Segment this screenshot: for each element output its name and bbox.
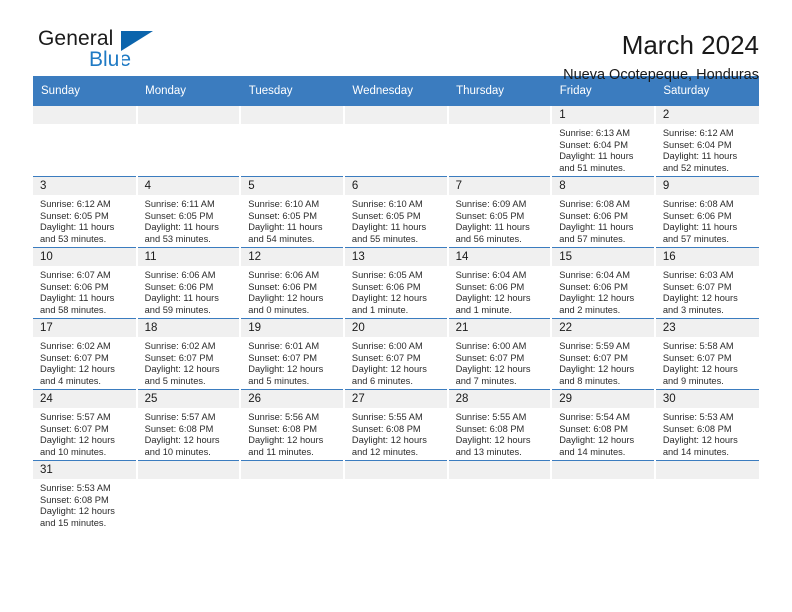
sunrise-text: Sunrise: 6:03 AM xyxy=(663,270,759,282)
calendar-day-cell[interactable]: 21Sunrise: 6:00 AMSunset: 6:07 PMDayligh… xyxy=(448,319,552,390)
day-number xyxy=(552,461,654,479)
calendar-day-cell[interactable]: 16Sunrise: 6:03 AMSunset: 6:07 PMDayligh… xyxy=(655,248,759,319)
day-number: 28 xyxy=(449,390,551,408)
daylight-text-line1: Daylight: 12 hours xyxy=(40,435,136,447)
weekday-header-tuesday: Tuesday xyxy=(240,76,344,106)
day-sun-info: Sunrise: 6:08 AMSunset: 6:06 PMDaylight:… xyxy=(656,195,759,245)
calendar-day-cell[interactable]: 12Sunrise: 6:06 AMSunset: 6:06 PMDayligh… xyxy=(240,248,344,319)
calendar-empty-cell xyxy=(137,461,241,532)
day-number: 15 xyxy=(552,248,654,266)
calendar-day-cell[interactable]: 4Sunrise: 6:11 AMSunset: 6:05 PMDaylight… xyxy=(137,177,241,248)
daylight-text-line1: Daylight: 12 hours xyxy=(559,364,654,376)
sunrise-text: Sunrise: 5:59 AM xyxy=(559,341,654,353)
sunrise-text: Sunrise: 6:08 AM xyxy=(663,199,759,211)
daylight-text-line2: and 8 minutes. xyxy=(559,376,654,388)
daylight-text-line1: Daylight: 12 hours xyxy=(248,364,343,376)
day-cell-content: 21Sunrise: 6:00 AMSunset: 6:07 PMDayligh… xyxy=(449,319,551,389)
day-cell-content: 3Sunrise: 6:12 AMSunset: 6:05 PMDaylight… xyxy=(33,177,136,247)
day-cell-content: 24Sunrise: 5:57 AMSunset: 6:07 PMDayligh… xyxy=(33,390,136,460)
brand-logo[interactable]: General Blue xyxy=(33,28,183,80)
daylight-text-line2: and 13 minutes. xyxy=(456,447,551,459)
daylight-text-line1: Daylight: 12 hours xyxy=(352,293,447,305)
day-sun-info: Sunrise: 6:00 AMSunset: 6:07 PMDaylight:… xyxy=(345,337,447,387)
sunrise-text: Sunrise: 6:04 AM xyxy=(559,270,654,282)
location-subtitle: Nueva Ocotepeque, Honduras xyxy=(563,64,759,86)
daylight-text-line2: and 11 minutes. xyxy=(248,447,343,459)
sunset-text: Sunset: 6:05 PM xyxy=(248,211,343,223)
calendar-day-cell[interactable]: 18Sunrise: 6:02 AMSunset: 6:07 PMDayligh… xyxy=(137,319,241,390)
sunset-text: Sunset: 6:07 PM xyxy=(40,424,136,436)
sunrise-text: Sunrise: 6:04 AM xyxy=(456,270,551,282)
sunset-text: Sunset: 6:06 PM xyxy=(559,211,654,223)
sunrise-text: Sunrise: 6:00 AM xyxy=(352,341,447,353)
day-number: 6 xyxy=(345,177,447,195)
day-cell-content: 4Sunrise: 6:11 AMSunset: 6:05 PMDaylight… xyxy=(138,177,240,247)
day-cell-content: 6Sunrise: 6:10 AMSunset: 6:05 PMDaylight… xyxy=(345,177,447,247)
day-number: 8 xyxy=(552,177,654,195)
daylight-text-line2: and 57 minutes. xyxy=(663,234,759,246)
daylight-text-line2: and 1 minute. xyxy=(456,305,551,317)
sunset-text: Sunset: 6:06 PM xyxy=(456,282,551,294)
sunrise-text: Sunrise: 5:57 AM xyxy=(145,412,240,424)
daylight-text-line2: and 15 minutes. xyxy=(40,518,136,530)
day-cell-content: 9Sunrise: 6:08 AMSunset: 6:06 PMDaylight… xyxy=(656,177,759,247)
sunset-text: Sunset: 6:06 PM xyxy=(559,282,654,294)
day-cell-content xyxy=(552,461,654,531)
sunrise-text: Sunrise: 6:09 AM xyxy=(456,199,551,211)
day-sun-info: Sunrise: 5:55 AMSunset: 6:08 PMDaylight:… xyxy=(449,408,551,458)
page-header: General Blue March 2024 Nueva Ocotepeque… xyxy=(33,0,759,72)
sunset-text: Sunset: 6:08 PM xyxy=(352,424,447,436)
daylight-text-line2: and 9 minutes. xyxy=(663,376,759,388)
day-cell-content: 25Sunrise: 5:57 AMSunset: 6:08 PMDayligh… xyxy=(138,390,240,460)
calendar-week-row: 17Sunrise: 6:02 AMSunset: 6:07 PMDayligh… xyxy=(33,319,759,390)
calendar-empty-cell xyxy=(448,106,552,177)
sunrise-text: Sunrise: 6:07 AM xyxy=(40,270,136,282)
calendar-day-cell[interactable]: 28Sunrise: 5:55 AMSunset: 6:08 PMDayligh… xyxy=(448,390,552,461)
daylight-text-line2: and 57 minutes. xyxy=(559,234,654,246)
day-cell-content: 22Sunrise: 5:59 AMSunset: 6:07 PMDayligh… xyxy=(552,319,654,389)
sunset-text: Sunset: 6:07 PM xyxy=(559,353,654,365)
day-number: 29 xyxy=(552,390,654,408)
daylight-text-line1: Daylight: 11 hours xyxy=(663,222,759,234)
sunrise-text: Sunrise: 6:12 AM xyxy=(663,128,759,140)
weekday-header-monday: Monday xyxy=(137,76,241,106)
day-sun-info: Sunrise: 6:07 AMSunset: 6:06 PMDaylight:… xyxy=(33,266,136,316)
day-number: 25 xyxy=(138,390,240,408)
day-number: 30 xyxy=(656,390,759,408)
day-sun-info: Sunrise: 6:12 AMSunset: 6:05 PMDaylight:… xyxy=(33,195,136,245)
sunset-text: Sunset: 6:07 PM xyxy=(663,282,759,294)
sunset-text: Sunset: 6:07 PM xyxy=(40,353,136,365)
daylight-text-line1: Daylight: 11 hours xyxy=(145,222,240,234)
daylight-text-line2: and 3 minutes. xyxy=(663,305,759,317)
daylight-text-line1: Daylight: 11 hours xyxy=(663,151,759,163)
day-sun-info: Sunrise: 5:56 AMSunset: 6:08 PMDaylight:… xyxy=(241,408,343,458)
day-sun-info: Sunrise: 6:05 AMSunset: 6:06 PMDaylight:… xyxy=(345,266,447,316)
daylight-text-line2: and 59 minutes. xyxy=(145,305,240,317)
day-number xyxy=(449,106,551,124)
sunset-text: Sunset: 6:08 PM xyxy=(145,424,240,436)
day-number xyxy=(138,461,240,479)
day-sun-info: Sunrise: 5:55 AMSunset: 6:08 PMDaylight:… xyxy=(345,408,447,458)
day-sun-info: Sunrise: 5:59 AMSunset: 6:07 PMDaylight:… xyxy=(552,337,654,387)
daylight-text-line1: Daylight: 11 hours xyxy=(456,222,551,234)
daylight-text-line1: Daylight: 11 hours xyxy=(559,222,654,234)
calendar-day-cell[interactable]: 5Sunrise: 6:10 AMSunset: 6:05 PMDaylight… xyxy=(240,177,344,248)
calendar-day-cell[interactable]: 10Sunrise: 6:07 AMSunset: 6:06 PMDayligh… xyxy=(33,248,137,319)
sunset-text: Sunset: 6:04 PM xyxy=(663,140,759,152)
day-number: 5 xyxy=(241,177,343,195)
day-cell-content xyxy=(345,106,447,176)
day-cell-content xyxy=(656,461,759,531)
day-number: 9 xyxy=(656,177,759,195)
sunrise-text: Sunrise: 6:08 AM xyxy=(559,199,654,211)
daylight-text-line1: Daylight: 12 hours xyxy=(40,364,136,376)
day-cell-content xyxy=(241,461,343,531)
day-number: 7 xyxy=(449,177,551,195)
day-number: 10 xyxy=(33,248,136,266)
day-sun-info: Sunrise: 5:53 AMSunset: 6:08 PMDaylight:… xyxy=(656,408,759,458)
calendar-body: 1Sunrise: 6:13 AMSunset: 6:04 PMDaylight… xyxy=(33,106,759,531)
sunrise-text: Sunrise: 6:11 AM xyxy=(145,199,240,211)
calendar-day-cell[interactable]: 20Sunrise: 6:00 AMSunset: 6:07 PMDayligh… xyxy=(344,319,448,390)
day-cell-content xyxy=(33,106,136,176)
day-sun-info: Sunrise: 6:08 AMSunset: 6:06 PMDaylight:… xyxy=(552,195,654,245)
sunset-text: Sunset: 6:05 PM xyxy=(456,211,551,223)
sunset-text: Sunset: 6:07 PM xyxy=(456,353,551,365)
sunrise-text: Sunrise: 5:53 AM xyxy=(663,412,759,424)
day-number: 1 xyxy=(552,106,654,124)
sunrise-text: Sunrise: 6:02 AM xyxy=(40,341,136,353)
day-number xyxy=(345,106,447,124)
day-sun-info: Sunrise: 6:13 AMSunset: 6:04 PMDaylight:… xyxy=(552,124,654,174)
sunset-text: Sunset: 6:06 PM xyxy=(145,282,240,294)
sunrise-text: Sunrise: 5:53 AM xyxy=(40,483,136,495)
calendar-empty-cell xyxy=(655,461,759,532)
day-cell-content xyxy=(138,106,240,176)
calendar-empty-cell xyxy=(344,106,448,177)
day-cell-content: 5Sunrise: 6:10 AMSunset: 6:05 PMDaylight… xyxy=(241,177,343,247)
calendar-day-cell[interactable]: 7Sunrise: 6:09 AMSunset: 6:05 PMDaylight… xyxy=(448,177,552,248)
daylight-text-line2: and 4 minutes. xyxy=(40,376,136,388)
sunrise-text: Sunrise: 5:54 AM xyxy=(559,412,654,424)
sunset-text: Sunset: 6:08 PM xyxy=(248,424,343,436)
calendar-day-cell[interactable]: 9Sunrise: 6:08 AMSunset: 6:06 PMDaylight… xyxy=(655,177,759,248)
calendar-week-row: 3Sunrise: 6:12 AMSunset: 6:05 PMDaylight… xyxy=(33,177,759,248)
sunrise-text: Sunrise: 6:06 AM xyxy=(248,270,343,282)
sunrise-text: Sunrise: 6:10 AM xyxy=(248,199,343,211)
brand-name-general: General xyxy=(38,28,183,50)
calendar-day-cell[interactable]: 13Sunrise: 6:05 AMSunset: 6:06 PMDayligh… xyxy=(344,248,448,319)
day-sun-info: Sunrise: 5:54 AMSunset: 6:08 PMDaylight:… xyxy=(552,408,654,458)
weekday-header-sunday: Sunday xyxy=(33,76,137,106)
calendar-day-cell[interactable]: 26Sunrise: 5:56 AMSunset: 6:08 PMDayligh… xyxy=(240,390,344,461)
day-sun-info: Sunrise: 6:11 AMSunset: 6:05 PMDaylight:… xyxy=(138,195,240,245)
sunset-text: Sunset: 6:06 PM xyxy=(40,282,136,294)
day-sun-info: Sunrise: 6:00 AMSunset: 6:07 PMDaylight:… xyxy=(449,337,551,387)
daylight-text-line1: Daylight: 12 hours xyxy=(145,435,240,447)
day-sun-info: Sunrise: 6:02 AMSunset: 6:07 PMDaylight:… xyxy=(138,337,240,387)
calendar-day-cell[interactable]: 2Sunrise: 6:12 AMSunset: 6:04 PMDaylight… xyxy=(655,106,759,177)
day-cell-content xyxy=(449,461,551,531)
logo-triangle-icon xyxy=(121,31,153,51)
day-sun-info: Sunrise: 6:01 AMSunset: 6:07 PMDaylight:… xyxy=(241,337,343,387)
day-cell-content: 7Sunrise: 6:09 AMSunset: 6:05 PMDaylight… xyxy=(449,177,551,247)
day-number: 12 xyxy=(241,248,343,266)
day-number: 26 xyxy=(241,390,343,408)
day-sun-info: Sunrise: 6:12 AMSunset: 6:04 PMDaylight:… xyxy=(656,124,759,174)
day-number xyxy=(241,106,343,124)
calendar-day-cell[interactable]: 14Sunrise: 6:04 AMSunset: 6:06 PMDayligh… xyxy=(448,248,552,319)
sunset-text: Sunset: 6:04 PM xyxy=(559,140,654,152)
calendar-day-cell[interactable]: 31Sunrise: 5:53 AMSunset: 6:08 PMDayligh… xyxy=(33,461,137,532)
sunrise-text: Sunrise: 6:00 AM xyxy=(456,341,551,353)
sunset-text: Sunset: 6:07 PM xyxy=(248,353,343,365)
daylight-text-line2: and 5 minutes. xyxy=(248,376,343,388)
sunset-text: Sunset: 6:05 PM xyxy=(352,211,447,223)
sunrise-text: Sunrise: 6:12 AM xyxy=(40,199,136,211)
weekday-header-wednesday: Wednesday xyxy=(344,76,448,106)
title-block: March 2024 Nueva Ocotepeque, Honduras xyxy=(563,28,759,86)
sunrise-text: Sunrise: 6:06 AM xyxy=(145,270,240,282)
day-cell-content: 8Sunrise: 6:08 AMSunset: 6:06 PMDaylight… xyxy=(552,177,654,247)
calendar-day-cell[interactable]: 11Sunrise: 6:06 AMSunset: 6:06 PMDayligh… xyxy=(137,248,241,319)
day-sun-info: Sunrise: 5:53 AMSunset: 6:08 PMDaylight:… xyxy=(33,479,136,529)
day-sun-info: Sunrise: 6:03 AMSunset: 6:07 PMDaylight:… xyxy=(656,266,759,316)
sunset-text: Sunset: 6:05 PM xyxy=(145,211,240,223)
sunrise-text: Sunrise: 5:55 AM xyxy=(352,412,447,424)
weekday-header-thursday: Thursday xyxy=(448,76,552,106)
daylight-text-line2: and 53 minutes. xyxy=(145,234,240,246)
day-sun-info: Sunrise: 6:10 AMSunset: 6:05 PMDaylight:… xyxy=(241,195,343,245)
day-cell-content: 26Sunrise: 5:56 AMSunset: 6:08 PMDayligh… xyxy=(241,390,343,460)
day-number xyxy=(33,106,136,124)
daylight-text-line2: and 0 minutes. xyxy=(248,305,343,317)
day-number xyxy=(138,106,240,124)
daylight-text-line1: Daylight: 12 hours xyxy=(248,435,343,447)
calendar-day-cell[interactable]: 17Sunrise: 6:02 AMSunset: 6:07 PMDayligh… xyxy=(33,319,137,390)
day-number: 16 xyxy=(656,248,759,266)
sunset-text: Sunset: 6:05 PM xyxy=(40,211,136,223)
sunset-text: Sunset: 6:06 PM xyxy=(352,282,447,294)
daylight-text-line1: Daylight: 11 hours xyxy=(352,222,447,234)
daylight-text-line1: Daylight: 11 hours xyxy=(248,222,343,234)
day-cell-content: 30Sunrise: 5:53 AMSunset: 6:08 PMDayligh… xyxy=(656,390,759,460)
sunset-text: Sunset: 6:06 PM xyxy=(663,211,759,223)
daylight-text-line2: and 55 minutes. xyxy=(352,234,447,246)
daylight-text-line1: Daylight: 12 hours xyxy=(456,435,551,447)
day-number: 14 xyxy=(449,248,551,266)
daylight-text-line2: and 12 minutes. xyxy=(352,447,447,459)
daylight-text-line2: and 6 minutes. xyxy=(352,376,447,388)
sunrise-text: Sunrise: 5:55 AM xyxy=(456,412,551,424)
page-title: March 2024 xyxy=(563,30,759,60)
sunrise-text: Sunrise: 5:58 AM xyxy=(663,341,759,353)
calendar-week-row: 31Sunrise: 5:53 AMSunset: 6:08 PMDayligh… xyxy=(33,461,759,532)
day-number: 21 xyxy=(449,319,551,337)
calendar-day-cell[interactable]: 8Sunrise: 6:08 AMSunset: 6:06 PMDaylight… xyxy=(551,177,655,248)
day-number xyxy=(345,461,447,479)
calendar-empty-cell xyxy=(33,106,137,177)
calendar-day-cell[interactable]: 15Sunrise: 6:04 AMSunset: 6:06 PMDayligh… xyxy=(551,248,655,319)
calendar-day-cell[interactable]: 22Sunrise: 5:59 AMSunset: 6:07 PMDayligh… xyxy=(551,319,655,390)
calendar-day-cell[interactable]: 1Sunrise: 6:13 AMSunset: 6:04 PMDaylight… xyxy=(551,106,655,177)
daylight-text-line1: Daylight: 12 hours xyxy=(145,364,240,376)
day-sun-info: Sunrise: 6:02 AMSunset: 6:07 PMDaylight:… xyxy=(33,337,136,387)
daylight-text-line1: Daylight: 12 hours xyxy=(663,435,759,447)
day-cell-content: 2Sunrise: 6:12 AMSunset: 6:04 PMDaylight… xyxy=(656,106,759,176)
calendar-week-row: 24Sunrise: 5:57 AMSunset: 6:07 PMDayligh… xyxy=(33,390,759,461)
day-number: 19 xyxy=(241,319,343,337)
daylight-text-line1: Daylight: 12 hours xyxy=(248,293,343,305)
day-cell-content: 15Sunrise: 6:04 AMSunset: 6:06 PMDayligh… xyxy=(552,248,654,318)
day-sun-info: Sunrise: 5:57 AMSunset: 6:07 PMDaylight:… xyxy=(33,408,136,458)
daylight-text-line2: and 53 minutes. xyxy=(40,234,136,246)
day-number: 13 xyxy=(345,248,447,266)
sunrise-text: Sunrise: 6:13 AM xyxy=(559,128,654,140)
daylight-text-line2: and 2 minutes. xyxy=(559,305,654,317)
daylight-text-line1: Daylight: 12 hours xyxy=(352,364,447,376)
day-number: 22 xyxy=(552,319,654,337)
calendar-day-cell[interactable]: 30Sunrise: 5:53 AMSunset: 6:08 PMDayligh… xyxy=(655,390,759,461)
day-sun-info: Sunrise: 6:10 AMSunset: 6:05 PMDaylight:… xyxy=(345,195,447,245)
daylight-text-line1: Daylight: 12 hours xyxy=(559,293,654,305)
calendar-day-cell[interactable]: 23Sunrise: 5:58 AMSunset: 6:07 PMDayligh… xyxy=(655,319,759,390)
day-cell-content: 16Sunrise: 6:03 AMSunset: 6:07 PMDayligh… xyxy=(656,248,759,318)
day-cell-content: 19Sunrise: 6:01 AMSunset: 6:07 PMDayligh… xyxy=(241,319,343,389)
calendar-empty-cell xyxy=(137,106,241,177)
day-sun-info: Sunrise: 6:06 AMSunset: 6:06 PMDaylight:… xyxy=(138,266,240,316)
day-cell-content: 28Sunrise: 5:55 AMSunset: 6:08 PMDayligh… xyxy=(449,390,551,460)
calendar-page: General Blue March 2024 Nueva Ocotepeque… xyxy=(0,0,792,612)
day-number: 17 xyxy=(33,319,136,337)
sunset-text: Sunset: 6:08 PM xyxy=(456,424,551,436)
daylight-text-line2: and 56 minutes. xyxy=(456,234,551,246)
sunset-text: Sunset: 6:08 PM xyxy=(663,424,759,436)
day-number xyxy=(449,461,551,479)
daylight-text-line2: and 10 minutes. xyxy=(145,447,240,459)
day-number: 31 xyxy=(33,461,136,479)
day-cell-content: 31Sunrise: 5:53 AMSunset: 6:08 PMDayligh… xyxy=(33,461,136,531)
day-sun-info: Sunrise: 5:58 AMSunset: 6:07 PMDaylight:… xyxy=(656,337,759,387)
day-number: 24 xyxy=(33,390,136,408)
day-cell-content xyxy=(241,106,343,176)
calendar-empty-cell xyxy=(448,461,552,532)
calendar-empty-cell xyxy=(551,461,655,532)
day-sun-info: Sunrise: 5:57 AMSunset: 6:08 PMDaylight:… xyxy=(138,408,240,458)
daylight-text-line1: Daylight: 11 hours xyxy=(40,293,136,305)
day-cell-content: 27Sunrise: 5:55 AMSunset: 6:08 PMDayligh… xyxy=(345,390,447,460)
daylight-text-line2: and 10 minutes. xyxy=(40,447,136,459)
calendar-week-row: 1Sunrise: 6:13 AMSunset: 6:04 PMDaylight… xyxy=(33,106,759,177)
day-cell-content: 23Sunrise: 5:58 AMSunset: 6:07 PMDayligh… xyxy=(656,319,759,389)
day-number: 20 xyxy=(345,319,447,337)
day-cell-content xyxy=(345,461,447,531)
calendar-day-cell[interactable]: 27Sunrise: 5:55 AMSunset: 6:08 PMDayligh… xyxy=(344,390,448,461)
daylight-text-line1: Daylight: 12 hours xyxy=(663,364,759,376)
calendar-week-row: 10Sunrise: 6:07 AMSunset: 6:06 PMDayligh… xyxy=(33,248,759,319)
sunset-text: Sunset: 6:07 PM xyxy=(663,353,759,365)
day-cell-content: 12Sunrise: 6:06 AMSunset: 6:06 PMDayligh… xyxy=(241,248,343,318)
daylight-text-line1: Daylight: 11 hours xyxy=(145,293,240,305)
brand-name-blue: Blue xyxy=(38,50,183,70)
day-number: 23 xyxy=(656,319,759,337)
day-cell-content: 14Sunrise: 6:04 AMSunset: 6:06 PMDayligh… xyxy=(449,248,551,318)
daylight-text-line1: Daylight: 12 hours xyxy=(456,364,551,376)
sunset-text: Sunset: 6:08 PM xyxy=(559,424,654,436)
daylight-text-line2: and 14 minutes. xyxy=(559,447,654,459)
day-number: 4 xyxy=(138,177,240,195)
calendar-empty-cell xyxy=(240,106,344,177)
daylight-text-line1: Daylight: 12 hours xyxy=(40,506,136,518)
sunrise-text: Sunrise: 6:10 AM xyxy=(352,199,447,211)
calendar-day-cell[interactable]: 25Sunrise: 5:57 AMSunset: 6:08 PMDayligh… xyxy=(137,390,241,461)
day-number: 27 xyxy=(345,390,447,408)
sunset-text: Sunset: 6:06 PM xyxy=(248,282,343,294)
sunrise-sunset-calendar: Sunday Monday Tuesday Wednesday Thursday… xyxy=(33,76,759,531)
calendar-day-cell[interactable]: 6Sunrise: 6:10 AMSunset: 6:05 PMDaylight… xyxy=(344,177,448,248)
day-number: 18 xyxy=(138,319,240,337)
calendar-day-cell[interactable]: 29Sunrise: 5:54 AMSunset: 6:08 PMDayligh… xyxy=(551,390,655,461)
daylight-text-line2: and 7 minutes. xyxy=(456,376,551,388)
day-cell-content xyxy=(138,461,240,531)
day-number: 3 xyxy=(33,177,136,195)
day-sun-info: Sunrise: 6:09 AMSunset: 6:05 PMDaylight:… xyxy=(449,195,551,245)
daylight-text-line1: Daylight: 12 hours xyxy=(559,435,654,447)
daylight-text-line2: and 14 minutes. xyxy=(663,447,759,459)
day-number: 2 xyxy=(656,106,759,124)
day-cell-content: 18Sunrise: 6:02 AMSunset: 6:07 PMDayligh… xyxy=(138,319,240,389)
daylight-text-line2: and 54 minutes. xyxy=(248,234,343,246)
day-cell-content: 11Sunrise: 6:06 AMSunset: 6:06 PMDayligh… xyxy=(138,248,240,318)
sunrise-text: Sunrise: 6:05 AM xyxy=(352,270,447,282)
daylight-text-line2: and 1 minute. xyxy=(352,305,447,317)
day-cell-content: 1Sunrise: 6:13 AMSunset: 6:04 PMDaylight… xyxy=(552,106,654,176)
daylight-text-line2: and 58 minutes. xyxy=(40,305,136,317)
daylight-text-line1: Daylight: 11 hours xyxy=(559,151,654,163)
sunrise-text: Sunrise: 5:56 AM xyxy=(248,412,343,424)
day-sun-info: Sunrise: 6:06 AMSunset: 6:06 PMDaylight:… xyxy=(241,266,343,316)
day-number xyxy=(656,461,759,479)
daylight-text-line1: Daylight: 12 hours xyxy=(352,435,447,447)
daylight-text-line2: and 5 minutes. xyxy=(145,376,240,388)
calendar-empty-cell xyxy=(240,461,344,532)
day-number xyxy=(241,461,343,479)
calendar-day-cell[interactable]: 3Sunrise: 6:12 AMSunset: 6:05 PMDaylight… xyxy=(33,177,137,248)
daylight-text-line2: and 51 minutes. xyxy=(559,163,654,175)
day-cell-content: 29Sunrise: 5:54 AMSunset: 6:08 PMDayligh… xyxy=(552,390,654,460)
day-number: 11 xyxy=(138,248,240,266)
day-sun-info: Sunrise: 6:04 AMSunset: 6:06 PMDaylight:… xyxy=(449,266,551,316)
day-cell-content xyxy=(449,106,551,176)
sunset-text: Sunset: 6:07 PM xyxy=(145,353,240,365)
daylight-text-line1: Daylight: 12 hours xyxy=(456,293,551,305)
sunrise-text: Sunrise: 5:57 AM xyxy=(40,412,136,424)
day-cell-content: 10Sunrise: 6:07 AMSunset: 6:06 PMDayligh… xyxy=(33,248,136,318)
daylight-text-line1: Daylight: 11 hours xyxy=(40,222,136,234)
calendar-day-cell[interactable]: 24Sunrise: 5:57 AMSunset: 6:07 PMDayligh… xyxy=(33,390,137,461)
day-sun-info: Sunrise: 6:04 AMSunset: 6:06 PMDaylight:… xyxy=(552,266,654,316)
sunset-text: Sunset: 6:08 PM xyxy=(40,495,136,507)
calendar-day-cell[interactable]: 19Sunrise: 6:01 AMSunset: 6:07 PMDayligh… xyxy=(240,319,344,390)
day-cell-content: 13Sunrise: 6:05 AMSunset: 6:06 PMDayligh… xyxy=(345,248,447,318)
sunset-text: Sunset: 6:07 PM xyxy=(352,353,447,365)
day-cell-content: 20Sunrise: 6:00 AMSunset: 6:07 PMDayligh… xyxy=(345,319,447,389)
sunrise-text: Sunrise: 6:02 AM xyxy=(145,341,240,353)
sunrise-text: Sunrise: 6:01 AM xyxy=(248,341,343,353)
daylight-text-line1: Daylight: 12 hours xyxy=(663,293,759,305)
